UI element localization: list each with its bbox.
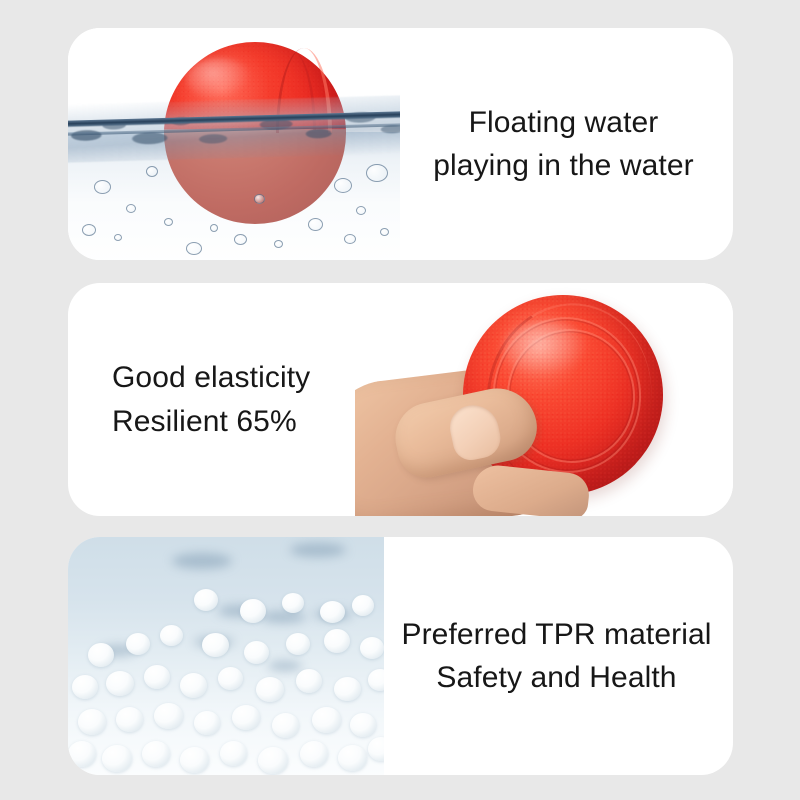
tpr-pellet [368,669,384,691]
bubble [356,206,366,215]
background-blur-streak [260,611,306,623]
red-ball-floating-in-water-photo [68,28,400,260]
heading-line-1: Preferred TPR material [401,614,711,655]
feature-card-tpr-material: Preferred TPR material Safety and Health [68,537,733,775]
heading-line-2: Resilient 65% [112,401,297,442]
heading-line-1: Floating water [469,102,659,143]
tpr-pellet [232,705,260,730]
feature-card-floating-water: Floating water playing in the water [68,28,733,260]
tpr-pellet [154,703,183,729]
hand-holding-red-ball-photo [355,283,733,516]
tpr-pellet [352,595,374,616]
bubble [146,166,158,177]
bubble [126,204,136,213]
background-blur-streak [172,553,232,569]
white-tpr-pellets-photo [68,537,384,775]
tpr-pellet [256,677,284,702]
tpr-pellet [68,741,96,767]
tpr-pellet [324,629,350,653]
background-blur-streak [290,543,346,557]
bubble [210,224,218,232]
heading-line-2: playing in the water [433,145,694,186]
tpr-pellet [220,741,247,766]
tpr-pellet [102,745,132,772]
bubble [274,240,283,248]
tpr-pellet [180,747,209,773]
tpr-pellet [218,667,243,690]
tpr-pellet [360,637,384,659]
ball-highlight [186,58,252,100]
tpr-pellet [312,707,341,733]
tpr-pellet [126,633,150,655]
heading-line-1: Good elasticity [112,357,310,398]
tpr-pellet [116,707,143,732]
bubble [344,234,356,244]
pellet-scene [68,537,384,775]
tpr-pellet [106,671,134,696]
tpr-pellet [194,589,218,611]
tpr-pellet [368,737,384,761]
tpr-pellet [258,747,288,774]
tpr-pellet [142,741,170,767]
bubble [366,164,388,182]
heading-line-2: Safety and Health [436,657,676,698]
tpr-pellet [78,709,106,735]
bubble [380,228,389,236]
tpr-pellet [202,633,229,657]
tpr-pellet [334,677,361,701]
bubble [114,234,122,241]
tpr-pellet [72,675,98,699]
bubble [254,194,265,204]
bubble [234,234,247,245]
feature-text-good-elasticity: Good elasticity Resilient 65% [68,283,355,516]
feature-text-floating-water: Floating water playing in the water [400,28,733,260]
tpr-pellet [144,665,170,689]
infographic-page: Floating water playing in the water Good… [0,0,800,800]
tpr-pellet [300,741,328,767]
feature-text-tpr-material: Preferred TPR material Safety and Health [384,537,733,775]
tpr-pellet [180,673,207,698]
tpr-pellet [240,599,266,623]
tpr-pellet [88,643,114,667]
tpr-pellet [160,625,183,646]
tpr-pellet [282,593,304,613]
background-blur-streak [268,661,302,671]
bubble [164,218,173,226]
water-scene [68,28,400,260]
bubble [82,224,96,236]
feature-card-good-elasticity: Good elasticity Resilient 65% [68,283,733,516]
bubble [186,242,202,255]
hand-scene [355,283,733,516]
bubble [94,180,111,194]
tpr-pellet [272,713,299,738]
tpr-pellet [350,713,376,737]
tpr-pellet [286,633,310,655]
ball-highlight [503,321,589,377]
tpr-pellet [194,711,220,735]
bubble [308,218,323,231]
tpr-pellet [320,601,345,623]
bubble [334,178,352,193]
tpr-pellet [296,669,322,693]
tpr-pellet [244,641,269,664]
tpr-pellet [338,745,367,771]
